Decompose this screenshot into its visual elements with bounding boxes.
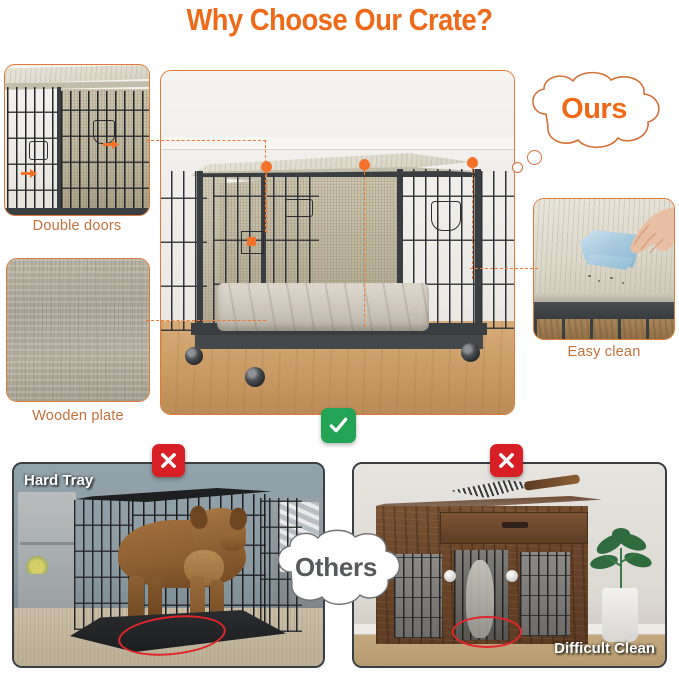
ours-verdict-check-badge (321, 408, 356, 443)
door-latch-side (431, 201, 461, 231)
callout-dash-vertical-right (472, 165, 473, 279)
others-bubble-label: Others (265, 552, 407, 583)
caption-difficult-clean: Difficult Clean (554, 640, 655, 657)
ours-bubble-dot-small (512, 162, 523, 173)
easy-clean-front-edge (534, 293, 675, 302)
callout-pin-door-box (241, 231, 264, 254)
easy-clean-dark-rail (534, 302, 675, 319)
hardtray-plant (26, 556, 48, 574)
callout-line-wooden-plate (146, 320, 266, 321)
crate-frame-vertical (57, 87, 61, 216)
ours-bubble: Ours (518, 70, 670, 154)
feature-panel-double-doors[interactable] (4, 64, 150, 216)
callout-line-easy-clean (470, 268, 538, 269)
callout-dash-vertical-mid (364, 167, 365, 327)
others-bubble: Others (265, 528, 407, 612)
infographic-root: Why Choose Our Crate? Double doors Woode… (0, 0, 679, 675)
crumb (588, 275, 591, 277)
callout-line-double-doors (146, 140, 266, 141)
caption-hard-tray: Hard Tray (24, 472, 93, 489)
feature-panel-wooden-plate[interactable] (6, 258, 150, 402)
callout-line-double-doors-drop (265, 140, 266, 232)
cabinet-drawer (440, 512, 588, 544)
crate-right-wing-mesh (481, 171, 515, 329)
crumb (610, 277, 613, 279)
caption-wooden-plate: Wooden plate (6, 408, 150, 424)
cabinet-right-mesh (520, 552, 570, 636)
hard-tray-cross-badge (152, 444, 185, 477)
ours-bubble-dot-large (527, 150, 542, 165)
main-product-photo[interactable] (160, 70, 515, 415)
difficult-clean-highlight-ring (452, 616, 522, 648)
callout-dash-vertical-left (266, 169, 267, 233)
hand-icon (614, 205, 675, 269)
crate-base-shelf (195, 335, 483, 349)
pet-cushion (217, 283, 429, 331)
cabinet-latch-left (444, 570, 456, 582)
feature-panel-easy-clean[interactable] (533, 198, 675, 340)
double-door-arrow-right-icon (103, 136, 119, 145)
cabinet-drawer-handle (502, 522, 528, 528)
crate-frame-post-left (197, 171, 203, 333)
cross-icon (158, 450, 179, 471)
crumb (622, 282, 624, 284)
hardtray-shelf-unit (18, 492, 76, 610)
caption-easy-clean: Easy clean (533, 344, 675, 360)
dog-snout (220, 532, 246, 551)
caster-wheel-front-mid[interactable] (245, 367, 265, 387)
caster-wheel-front-left[interactable] (185, 347, 203, 365)
wooden-plate-swatch (7, 259, 149, 401)
page-title: Why Choose Our Crate? (41, 2, 639, 38)
cross-icon (496, 450, 517, 471)
caster-wheel-right[interactable] (461, 343, 480, 362)
easy-clean-basket-row (534, 319, 675, 340)
caption-double-doors: Double doors (4, 218, 150, 234)
hardtray-shelf-line (20, 542, 74, 545)
cabinet-latch-right (506, 570, 518, 582)
ours-bubble-label: Ours (518, 93, 670, 126)
crate-frame-post-far (475, 169, 481, 329)
door-latch-left (29, 141, 48, 160)
door-latch-upper (285, 199, 313, 217)
check-icon (327, 414, 350, 437)
double-door-arrow-left-icon (21, 165, 37, 174)
potted-plant-leaves (590, 526, 652, 592)
crate-frame-bottom (5, 208, 150, 215)
difficult-clean-cross-badge (490, 444, 523, 477)
crate-door-mesh (61, 91, 150, 215)
crumb (598, 280, 600, 282)
potted-plant-pot (602, 588, 638, 642)
room-baseboard (161, 137, 514, 150)
